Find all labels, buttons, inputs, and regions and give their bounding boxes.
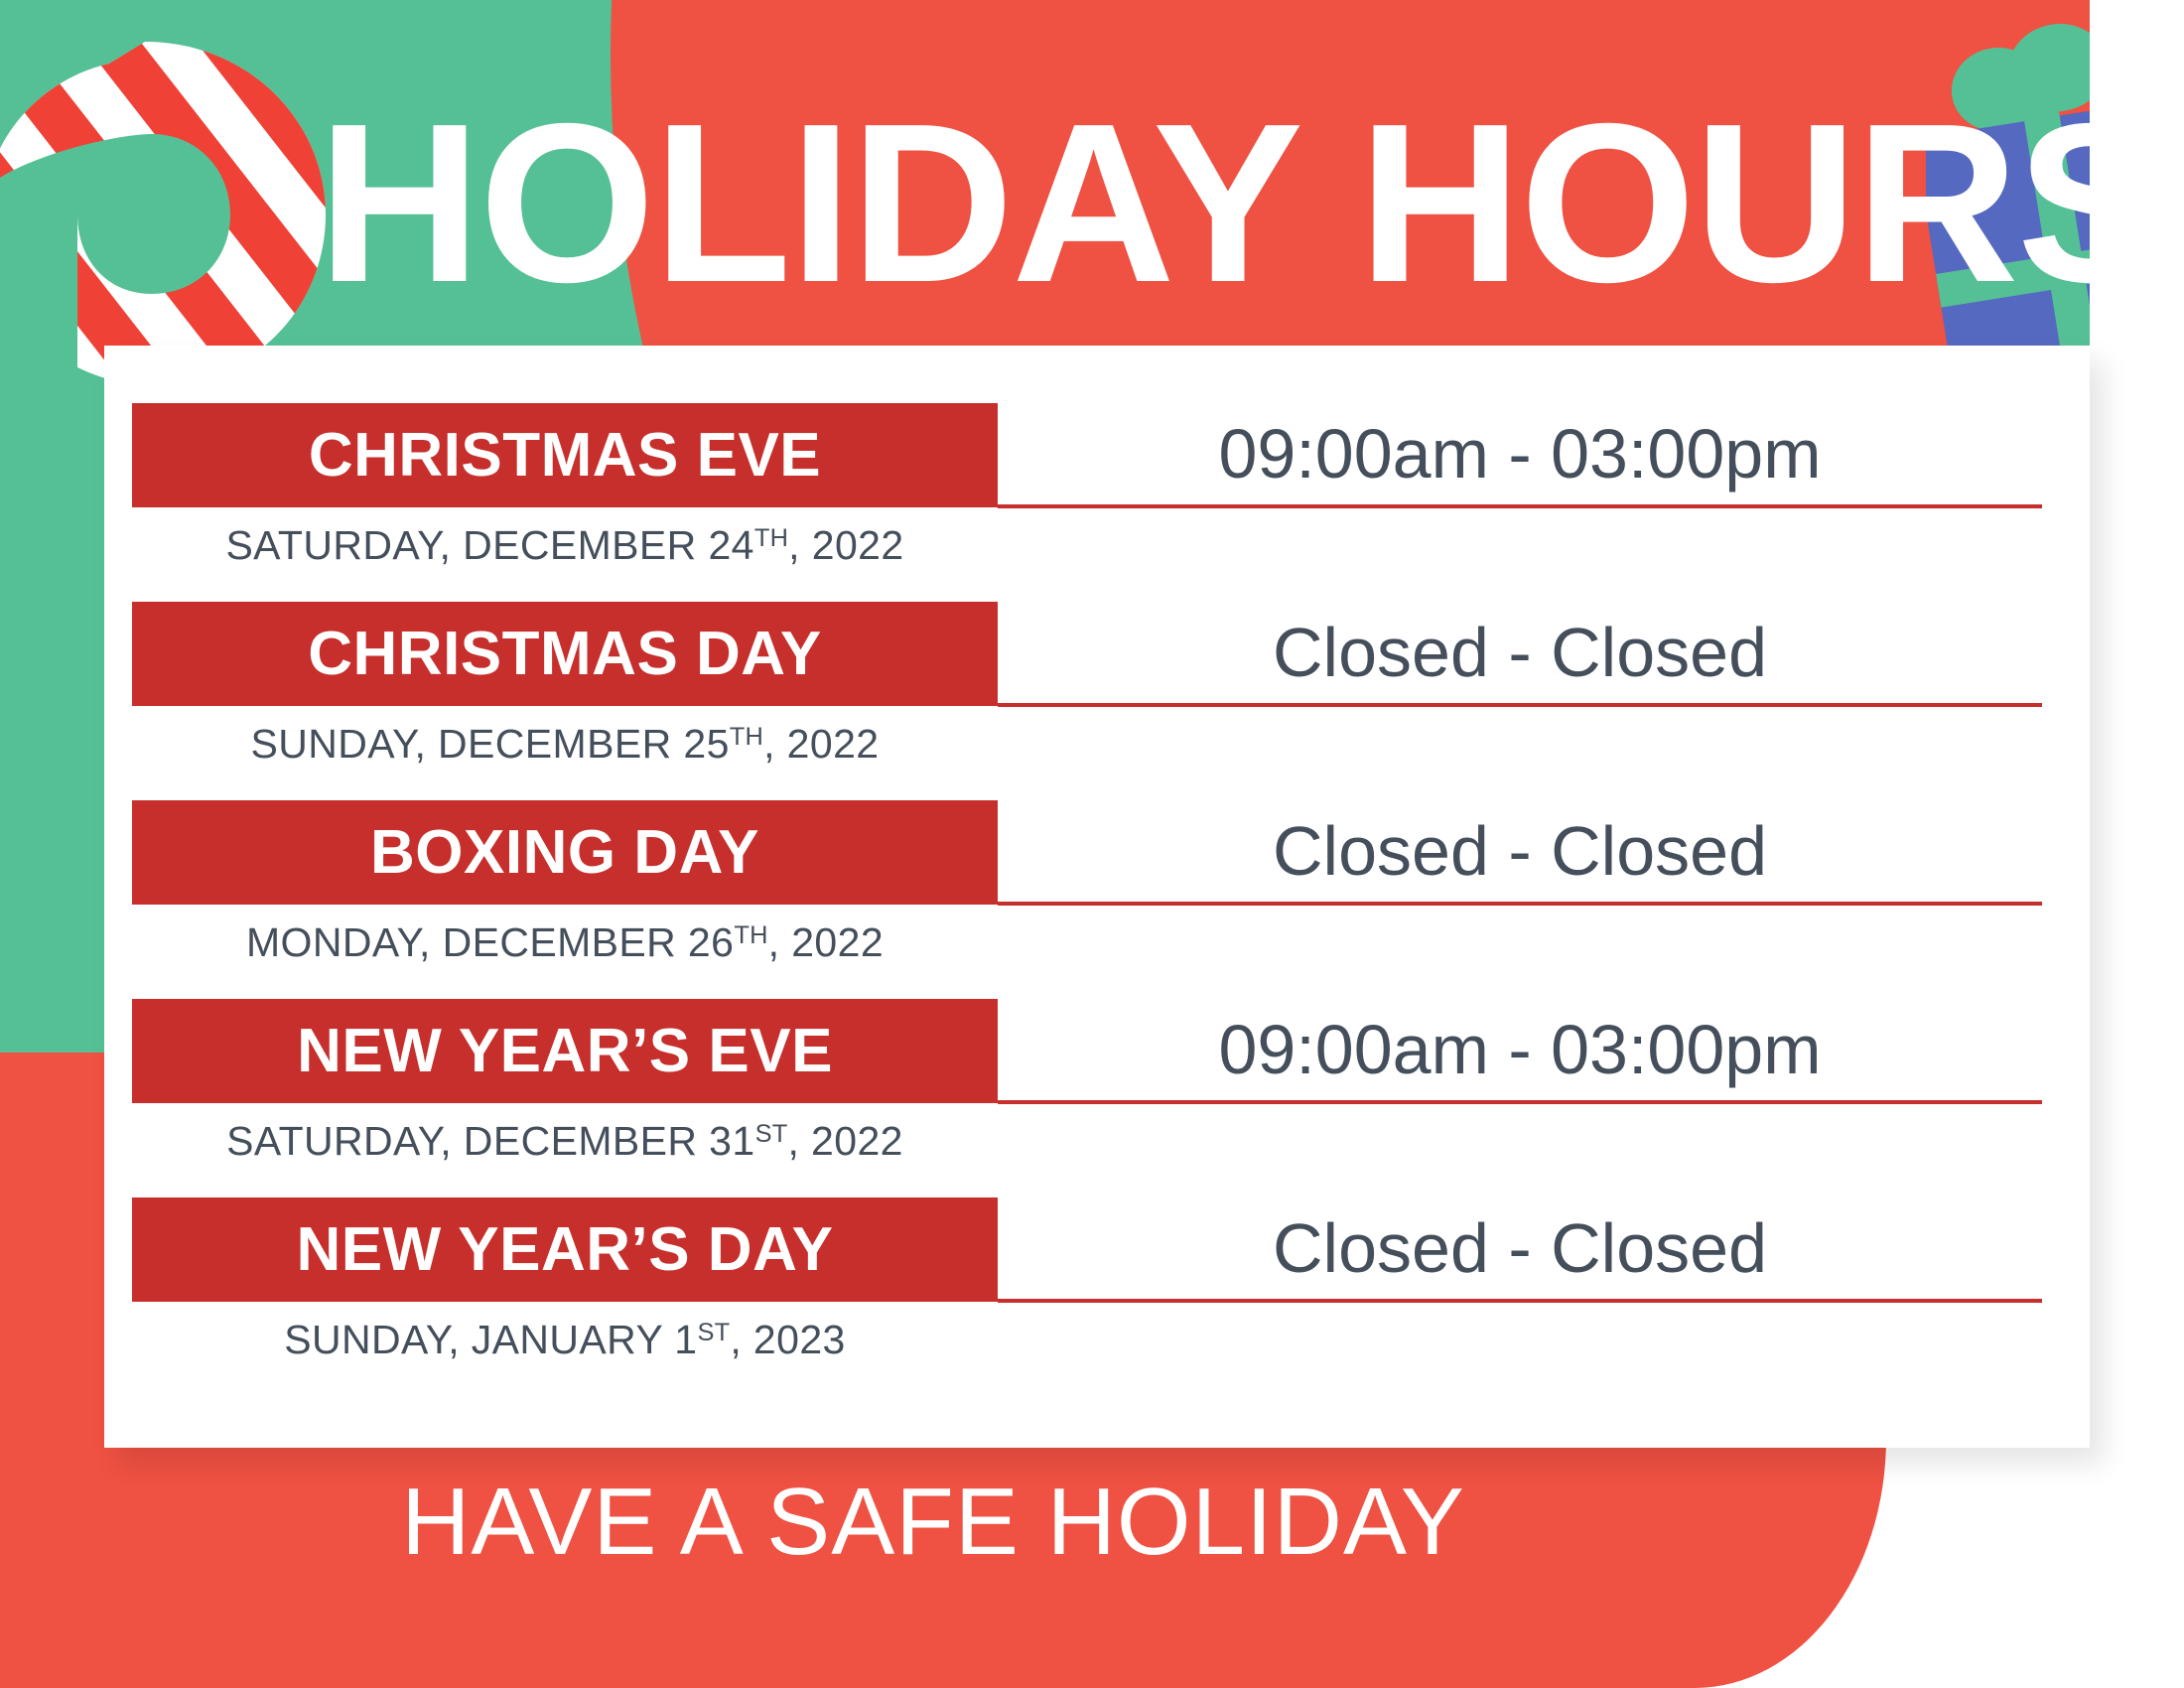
holiday-date-tail: , 2022 bbox=[768, 919, 884, 965]
table-row: NEW YEAR’S EVE SATURDAY, DECEMBER 31ST, … bbox=[104, 999, 2090, 1197]
holiday-name: CHRISTMAS DAY bbox=[308, 623, 822, 686]
holiday-date-tail: , 2022 bbox=[763, 721, 879, 767]
table-row: CHRISTMAS DAY SUNDAY, DECEMBER 25TH, 202… bbox=[104, 602, 2090, 800]
hours-row-list: CHRISTMAS EVE SATURDAY, DECEMBER 24TH, 2… bbox=[104, 346, 2090, 1448]
table-row: BOXING DAY MONDAY, DECEMBER 26TH, 2022 C… bbox=[104, 800, 2090, 999]
holiday-label-bar: NEW YEAR’S EVE bbox=[132, 999, 998, 1103]
holiday-date: SATURDAY, DECEMBER 31ST, 2022 bbox=[132, 1108, 998, 1167]
holiday-date: SUNDAY, DECEMBER 25TH, 2022 bbox=[132, 711, 998, 770]
holiday-name: CHRISTMAS EVE bbox=[309, 424, 821, 488]
holiday-date-tail: , 2023 bbox=[730, 1317, 845, 1362]
page-title: HOLIDAY HOURS bbox=[318, 93, 1946, 314]
holiday-date-prefix: SATURDAY, DECEMBER 31 bbox=[226, 1118, 754, 1164]
footer-message: HAVE A SAFE HOLIDAY bbox=[0, 1468, 1866, 1577]
holiday-date-tail: , 2022 bbox=[788, 522, 903, 568]
holiday-hours: 09:00am - 03:00pm bbox=[998, 415, 2042, 492]
holiday-date: SATURDAY, DECEMBER 24TH, 2022 bbox=[132, 512, 998, 571]
holiday-date-prefix: SUNDAY, JANUARY 1 bbox=[284, 1317, 697, 1362]
holiday-name: NEW YEAR’S EVE bbox=[297, 1020, 833, 1083]
holiday-hours-cell: Closed - Closed bbox=[998, 800, 2042, 906]
holiday-date-prefix: SATURDAY, DECEMBER 24 bbox=[225, 522, 753, 568]
holiday-date-ordinal: TH bbox=[734, 921, 767, 949]
holiday-date: MONDAY, DECEMBER 26TH, 2022 bbox=[132, 910, 998, 968]
holiday-label-bar: CHRISTMAS DAY bbox=[132, 602, 998, 706]
holiday-date-prefix: MONDAY, DECEMBER 26 bbox=[246, 919, 734, 965]
table-row: NEW YEAR’S DAY SUNDAY, JANUARY 1ST, 2023… bbox=[104, 1197, 2090, 1396]
holiday-hours-cell: 09:00am - 03:00pm bbox=[998, 403, 2042, 508]
holiday-date-ordinal: ST bbox=[755, 1120, 788, 1148]
holiday-hours: Closed - Closed bbox=[998, 1209, 2042, 1287]
holiday-hours-cell: Closed - Closed bbox=[998, 602, 2042, 707]
holiday-date-ordinal: TH bbox=[754, 524, 788, 552]
holiday-hours: Closed - Closed bbox=[998, 812, 2042, 890]
holiday-label-bar: NEW YEAR’S DAY bbox=[132, 1197, 998, 1302]
holiday-date-prefix: SUNDAY, DECEMBER 25 bbox=[251, 721, 730, 767]
table-row: CHRISTMAS EVE SATURDAY, DECEMBER 24TH, 2… bbox=[104, 403, 2090, 602]
holiday-hours-poster: HOLIDAY HOURS CHRISTMAS EVE SATURDAY, DE… bbox=[0, 0, 2184, 1688]
holiday-date-tail: , 2022 bbox=[787, 1118, 902, 1164]
holiday-hours: Closed - Closed bbox=[998, 614, 2042, 691]
holiday-name: BOXING DAY bbox=[370, 821, 759, 885]
holiday-date-ordinal: TH bbox=[730, 723, 763, 751]
holiday-hours-cell: 09:00am - 03:00pm bbox=[998, 999, 2042, 1104]
holiday-hours: 09:00am - 03:00pm bbox=[998, 1011, 2042, 1088]
holiday-date-ordinal: ST bbox=[697, 1319, 730, 1346]
holiday-name: NEW YEAR’S DAY bbox=[296, 1218, 833, 1282]
holiday-label-bar: CHRISTMAS EVE bbox=[132, 403, 998, 507]
holiday-hours-cell: Closed - Closed bbox=[998, 1197, 2042, 1303]
holiday-date: SUNDAY, JANUARY 1ST, 2023 bbox=[132, 1307, 998, 1365]
hours-card: CHRISTMAS EVE SATURDAY, DECEMBER 24TH, 2… bbox=[104, 346, 2090, 1448]
holiday-label-bar: BOXING DAY bbox=[132, 800, 998, 905]
